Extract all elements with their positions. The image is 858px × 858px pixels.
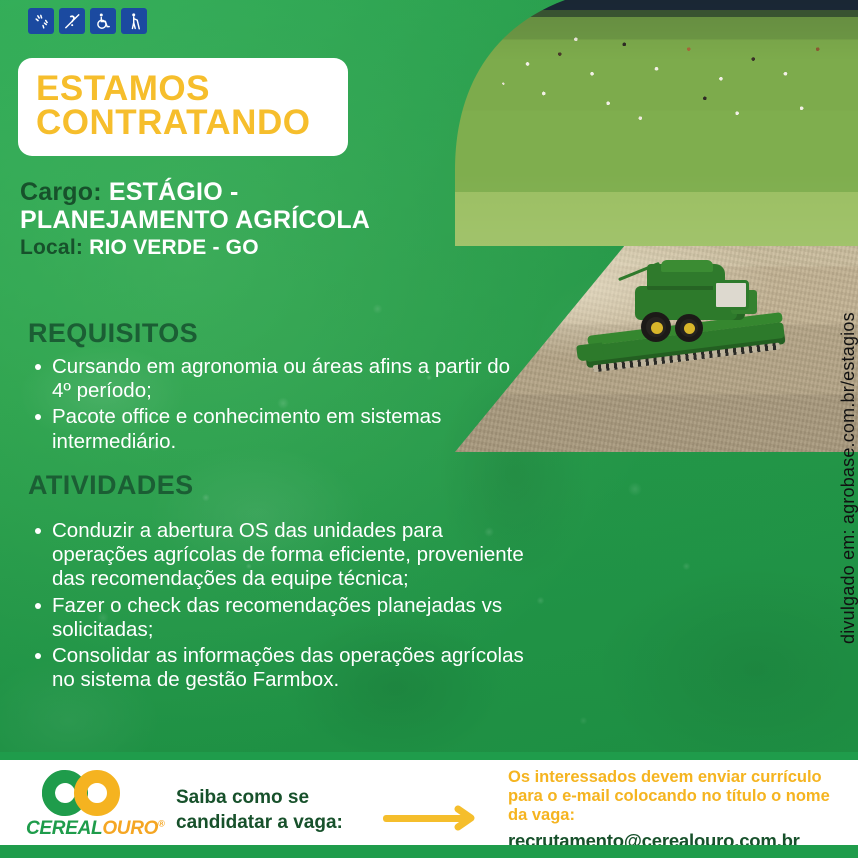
headline-line-2: CONTRATANDO [36, 106, 330, 140]
sign-language-icon [28, 8, 54, 34]
logo-wordmark: CEREALOURO® [26, 818, 176, 840]
apply-instructions: Os interessados devem enviar currículo p… [508, 768, 853, 852]
local-line: Local: RIO VERDE - GO [20, 236, 450, 260]
requirements-section: REQUISITOS Cursando em agronomia ou área… [28, 318, 528, 456]
requirements-title: REQUISITOS [28, 318, 528, 349]
cattle-pasture-photo [455, 0, 858, 246]
visually-impaired-icon [121, 8, 147, 34]
activities-section: ATIVIDADES Conduzir a abertura OS das un… [28, 470, 538, 694]
apply-cta-text: Saiba como se candidatar a vaga: [176, 786, 376, 835]
job-meta: Cargo: ESTÁGIO - PLANEJAMENTO AGRÍCOLA L… [20, 178, 450, 260]
cargo-label: Cargo: [20, 178, 102, 206]
logo-registered-mark: ® [158, 819, 164, 829]
footer-bottom-strip [0, 845, 858, 858]
list-item: Pacote office e conhecimento em sistemas… [28, 405, 528, 453]
list-item: Consolidar as informações das operações … [28, 644, 538, 692]
logo-cereal-text: CEREAL [26, 818, 102, 839]
local-label: Local: [20, 236, 83, 259]
source-credit-vertical: divulgado em: agrobase.com.br/estagios [838, 214, 858, 644]
local-value: RIO VERDE - GO [89, 236, 259, 259]
cereal-ouro-logo: CEREALOURO® [26, 770, 168, 842]
job-posting-poster: ESTAMOS CONTRATANDO Cargo: ESTÁGIO - PLA… [0, 0, 858, 858]
activities-title: ATIVIDADES [28, 470, 538, 501]
list-item: Cursando em agronomia ou áreas afins a p… [28, 355, 528, 403]
footer-top-strip [0, 752, 858, 760]
arrow-right-icon [383, 805, 493, 831]
headline-line-1: ESTAMOS [36, 72, 330, 106]
list-item: Conduzir a abertura OS das unidades para… [28, 519, 538, 592]
activities-list: Conduzir a abertura OS das unidades para… [28, 519, 538, 692]
requirements-list: Cursando em agronomia ou áreas afins a p… [28, 355, 528, 454]
apply-note-text: Os interessados devem enviar currículo p… [508, 768, 853, 825]
cargo-line: Cargo: ESTÁGIO - PLANEJAMENTO AGRÍCOLA [20, 178, 450, 234]
accessibility-icon-row [28, 8, 147, 34]
hearing-impaired-icon [59, 8, 85, 34]
logo-ouro-text: OURO [102, 818, 158, 839]
wheelchair-icon [90, 8, 116, 34]
list-item: Fazer o check das recomendações planejad… [28, 594, 538, 642]
logo-rings-icon [40, 770, 172, 816]
headline-card: ESTAMOS CONTRATANDO [18, 58, 348, 156]
combine-harvester-illustration [605, 260, 815, 390]
